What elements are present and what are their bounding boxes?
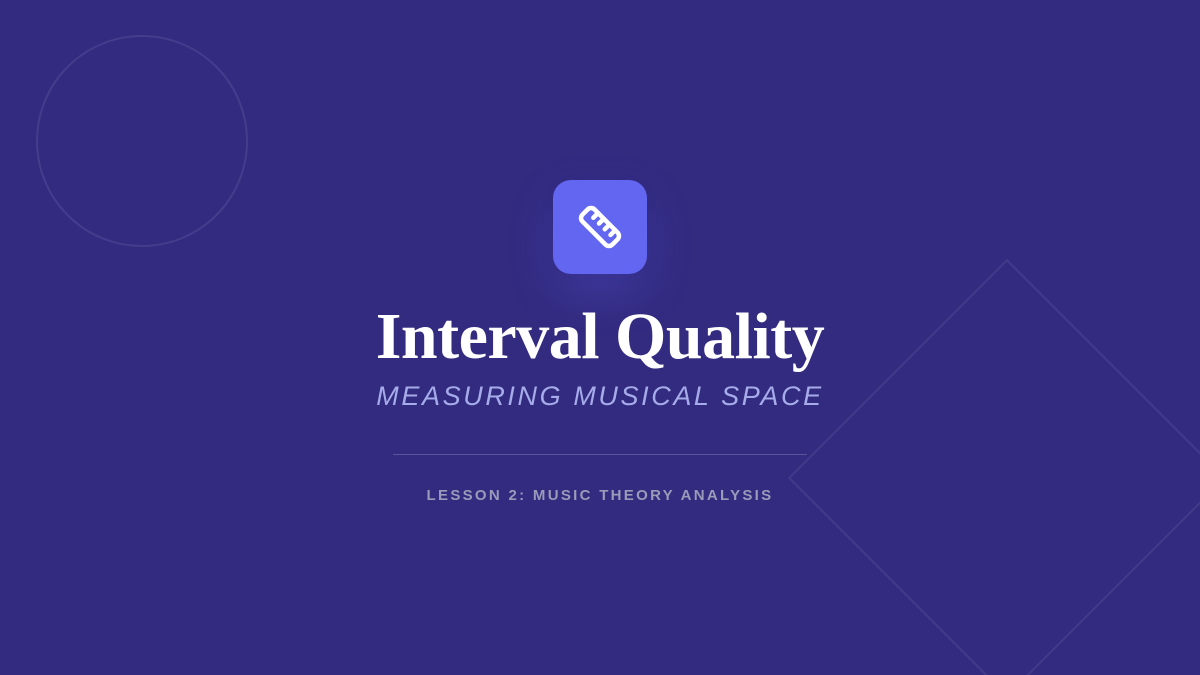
icon-tile <box>553 180 647 274</box>
title-slide: Interval Quality Measuring Musical Space… <box>0 0 1200 675</box>
page-subtitle: Measuring Musical Space <box>376 381 823 412</box>
page-title: Interval Quality <box>376 302 825 371</box>
slide-content: Interval Quality Measuring Musical Space… <box>0 0 1200 675</box>
lesson-label: Lesson 2: Music Theory Analysis <box>427 487 774 504</box>
divider <box>393 454 807 455</box>
ruler-icon <box>573 200 627 254</box>
